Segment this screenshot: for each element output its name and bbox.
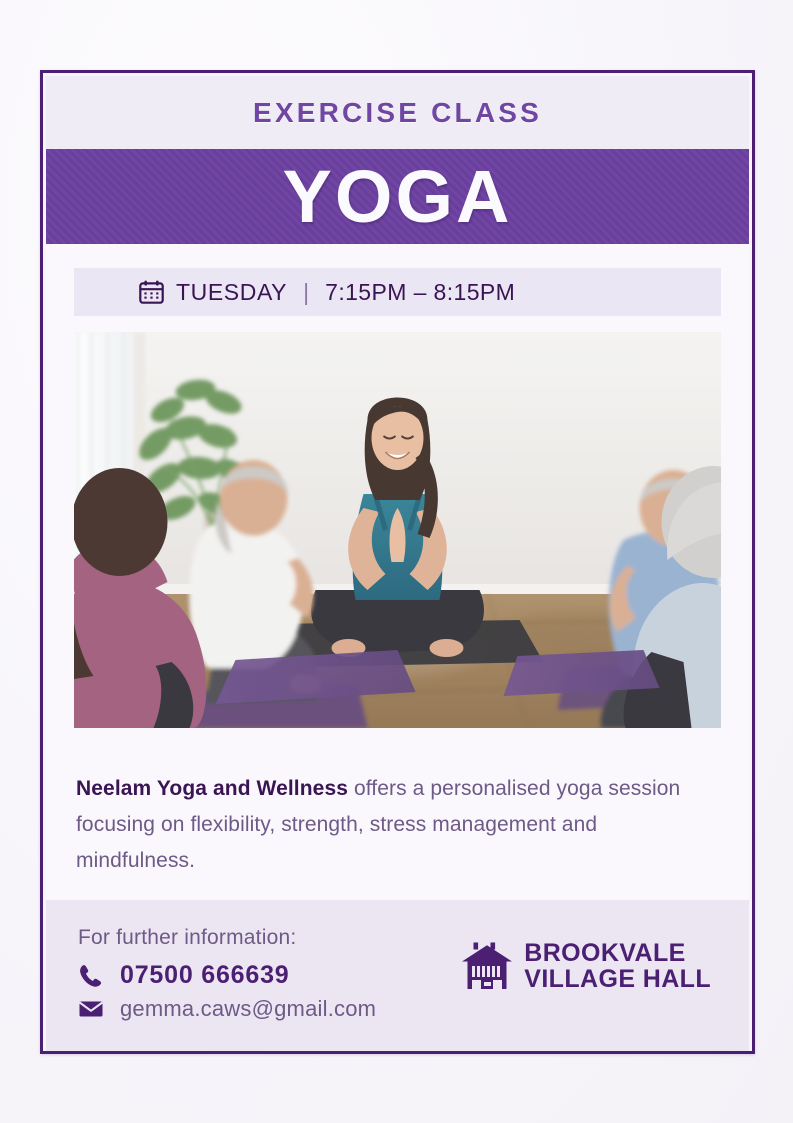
kicker-label: EXERCISE CLASS (253, 97, 542, 129)
email-address[interactable]: gemma.caws@gmail.com (120, 996, 376, 1022)
phone-number[interactable]: 07500 666639 (120, 961, 290, 990)
brand-line-1: BROOKVALE (524, 940, 711, 966)
description-text: Neelam Yoga and Wellness offers a person… (76, 771, 721, 879)
poster-inner-frame: EXERCISE CLASS YOGA (43, 73, 752, 1051)
schedule-strip: TUESDAY | 7:15PM – 8:15PM (74, 268, 721, 316)
description-lead: Neelam Yoga and Wellness (76, 777, 348, 800)
description-section: Neelam Yoga and Wellness offers a person… (46, 728, 749, 900)
schedule-section: TUESDAY | 7:15PM – 8:15PM (46, 244, 749, 316)
schedule-time: 7:15PM – 8:15PM (325, 279, 515, 306)
phone-row[interactable]: 07500 666639 (78, 961, 376, 990)
brand-lockup: BROOKVALE VILLAGE HALL (461, 940, 711, 992)
poster-page-background: EXERCISE CLASS YOGA (0, 0, 793, 1123)
contact-details: For further information: 07500 666639 ge… (78, 926, 376, 1028)
phone-icon (78, 963, 104, 989)
calendar-icon (139, 280, 164, 304)
yoga-class-photo-illustration (74, 332, 721, 728)
brand-wordmark: BROOKVALE VILLAGE HALL (524, 940, 711, 992)
kicker-band: EXERCISE CLASS (46, 76, 749, 149)
yoga-class-photo (74, 332, 721, 728)
schedule-separator: | (299, 279, 313, 306)
title-band: YOGA (46, 149, 749, 244)
contact-section: For further information: 07500 666639 ge… (46, 900, 749, 1054)
email-row[interactable]: gemma.caws@gmail.com (78, 996, 376, 1022)
brand-line-2: VILLAGE HALL (524, 966, 711, 992)
village-hall-house-icon (461, 942, 513, 990)
page-title: YOGA (283, 160, 513, 234)
poster-card: EXERCISE CLASS YOGA (40, 70, 755, 1054)
photo-section (46, 316, 749, 728)
schedule-day: TUESDAY (176, 279, 287, 306)
envelope-icon (78, 996, 104, 1022)
contact-heading: For further information: (78, 926, 376, 950)
